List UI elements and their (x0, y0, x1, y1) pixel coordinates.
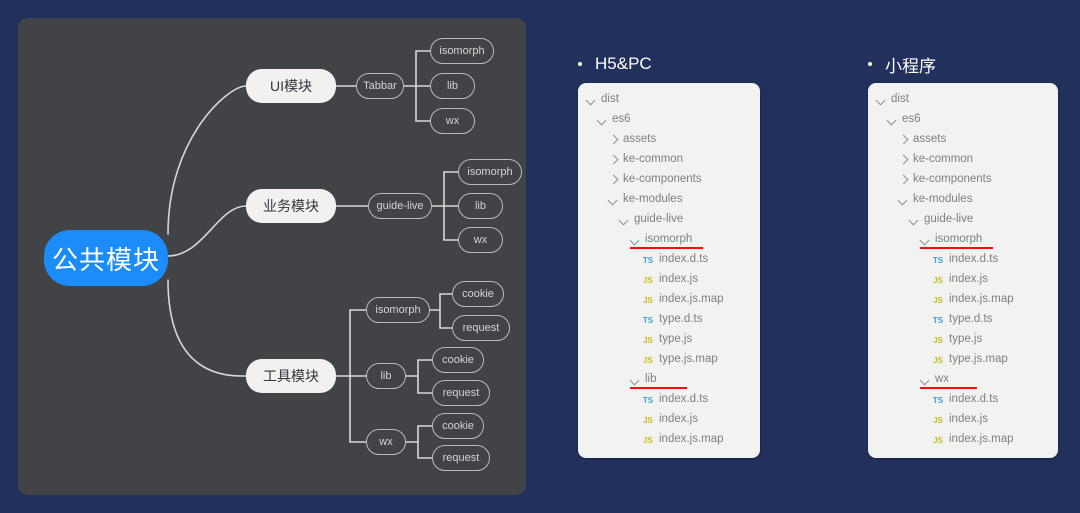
tree-folder-row[interactable]: isomorph (868, 230, 1058, 250)
tree-folder-row[interactable]: dist (578, 90, 760, 110)
tree-row-label: type.d.ts (659, 314, 702, 326)
tree-row-label: index.js.map (659, 434, 724, 446)
tree-row-label: lib (645, 374, 657, 386)
mindmap-node-tools-lib[interactable]: lib (366, 363, 406, 389)
tree-row-label: assets (913, 134, 946, 146)
mindmap-panel: 公共模块 UI模块 Tabbar isomorph lib wx 业务模块 gu… (18, 18, 526, 495)
tree-folder-row[interactable]: ke-common (868, 150, 1058, 170)
highlight-underline (920, 387, 977, 389)
tree-row-label: type.js.map (659, 354, 718, 366)
tree-row-label: es6 (612, 114, 631, 126)
ts-file-icon: TS (641, 396, 655, 405)
tree-row-label: index.js.map (949, 434, 1014, 446)
file-tree-h5pc-title-label: H5&PC (595, 54, 652, 74)
mindmap-node-biz-isomorph[interactable]: isomorph (458, 159, 522, 185)
tree-row-label: assets (623, 134, 656, 146)
tree-row-label: index.d.ts (659, 394, 708, 406)
tree-row-label: dist (601, 94, 619, 106)
chevron-down-icon[interactable] (887, 115, 898, 126)
tree-row-label: type.js (949, 334, 982, 346)
js-file-icon: JS (931, 296, 945, 305)
tree-file-row[interactable]: JSindex.js.map (578, 290, 760, 310)
highlight-underline (630, 247, 703, 249)
ts-file-icon: TS (641, 316, 655, 325)
tree-row-label: index.js.map (659, 294, 724, 306)
tree-file-row[interactable]: JStype.js.map (578, 350, 760, 370)
js-file-icon: JS (931, 336, 945, 345)
tree-row-label: index.d.ts (659, 254, 708, 266)
tree-file-row[interactable]: JSindex.js (578, 270, 760, 290)
js-file-icon: JS (641, 336, 655, 345)
bullet-icon (578, 62, 582, 66)
tree-row-label: type.d.ts (949, 314, 992, 326)
tree-row-label: guide-live (634, 214, 683, 226)
chevron-right-icon[interactable] (608, 155, 619, 166)
chevron-down-icon[interactable] (608, 195, 619, 206)
mindmap-node-ui-isomorph[interactable]: isomorph (430, 38, 494, 64)
tree-row-label: guide-live (924, 214, 973, 226)
chevron-down-icon[interactable] (586, 95, 597, 106)
file-tree-h5pc: H5&PC distes6assetske-commonke-component… (578, 52, 760, 458)
tree-file-row[interactable]: JSindex.js (578, 410, 760, 430)
tree-folder-row[interactable]: wx (868, 370, 1058, 390)
file-tree-h5pc-title: H5&PC (578, 52, 760, 76)
mindmap-node-business-module[interactable]: 业务模块 (246, 189, 336, 223)
tree-folder-row[interactable]: es6 (868, 110, 1058, 130)
tree-folder-row[interactable]: es6 (578, 110, 760, 130)
mindmap-node-tabbar[interactable]: Tabbar (356, 73, 404, 99)
tree-row-label: ke-components (913, 174, 992, 186)
js-file-icon: JS (931, 436, 945, 445)
tree-row-label: index.js (659, 274, 698, 286)
ts-file-icon: TS (641, 256, 655, 265)
tree-row-label: index.js.map (949, 294, 1014, 306)
mindmap-node-tools-wx-cookie[interactable]: cookie (432, 413, 484, 439)
mindmap-root-node[interactable]: 公共模块 (44, 230, 168, 286)
tree-folder-row[interactable]: assets (868, 130, 1058, 150)
ts-file-icon: TS (931, 316, 945, 325)
chevron-right-icon[interactable] (898, 155, 909, 166)
mindmap-node-tools-isomorph[interactable]: isomorph (366, 297, 430, 323)
tree-folder-row[interactable]: ke-components (578, 170, 760, 190)
chevron-right-icon[interactable] (898, 175, 909, 186)
tree-file-row[interactable]: JSindex.js (868, 270, 1058, 290)
ts-file-icon: TS (931, 256, 945, 265)
tree-file-row[interactable]: JSindex.js.map (868, 430, 1058, 450)
js-file-icon: JS (641, 356, 655, 365)
mindmap-node-ui-lib[interactable]: lib (430, 73, 475, 99)
mindmap-node-guide-live[interactable]: guide-live (368, 193, 432, 219)
tree-row-label: ke-modules (913, 194, 972, 206)
js-file-icon: JS (931, 356, 945, 365)
js-file-icon: JS (931, 416, 945, 425)
mindmap-node-tools-lib-request[interactable]: request (432, 380, 490, 406)
screenshot-root: 公共模块 UI模块 Tabbar isomorph lib wx 业务模块 gu… (0, 0, 1080, 513)
tree-folder-row[interactable]: lib (578, 370, 760, 390)
bullet-icon (868, 62, 872, 66)
tree-folder-row[interactable]: ke-components (868, 170, 1058, 190)
tree-row-label: type.js.map (949, 354, 1008, 366)
tree-folder-row[interactable]: ke-common (578, 150, 760, 170)
tree-row-label: isomorph (935, 234, 982, 246)
tree-file-row[interactable]: JSindex.js (868, 410, 1058, 430)
tree-folder-row[interactable]: assets (578, 130, 760, 150)
tree-row-label: index.js (949, 274, 988, 286)
mindmap-node-biz-wx[interactable]: wx (458, 227, 503, 253)
tree-row-label: index.js (949, 414, 988, 426)
highlight-underline (630, 387, 687, 389)
mindmap-node-tools-wx[interactable]: wx (366, 429, 406, 455)
mindmap-node-tools-module[interactable]: 工具模块 (246, 359, 336, 393)
js-file-icon: JS (641, 416, 655, 425)
chevron-down-icon[interactable] (876, 95, 887, 106)
file-tree-miniprogram-card: distes6assetske-commonke-componentske-mo… (868, 83, 1058, 458)
tree-file-row[interactable]: TSindex.d.ts (868, 250, 1058, 270)
file-tree-miniprogram-title: 小程序 (868, 52, 1058, 76)
tree-row-label: ke-components (623, 174, 702, 186)
tree-row-label: ke-common (623, 154, 683, 166)
tree-row-label: ke-modules (623, 194, 682, 206)
file-tree-miniprogram-title-label: 小程序 (885, 52, 936, 77)
tree-file-row[interactable]: JStype.js (578, 330, 760, 350)
tree-row-label: type.js (659, 334, 692, 346)
tree-file-row[interactable]: JSindex.js.map (578, 430, 760, 450)
file-tree-miniprogram: 小程序 distes6assetske-commonke-componentsk… (868, 52, 1058, 458)
chevron-down-icon[interactable] (898, 195, 909, 206)
highlight-underline (920, 247, 993, 249)
chevron-down-icon[interactable] (920, 375, 931, 386)
js-file-icon: JS (931, 276, 945, 285)
js-file-icon: JS (641, 436, 655, 445)
mindmap-node-tools-lib-cookie[interactable]: cookie (432, 347, 484, 373)
chevron-down-icon[interactable] (630, 375, 641, 386)
chevron-right-icon[interactable] (898, 135, 909, 146)
chevron-right-icon[interactable] (608, 175, 619, 186)
tree-row-label: index.d.ts (949, 394, 998, 406)
tree-folder-row[interactable]: ke-modules (578, 190, 760, 210)
tree-row-label: wx (935, 374, 949, 386)
tree-file-row[interactable]: JStype.js.map (868, 350, 1058, 370)
tree-row-label: es6 (902, 114, 921, 126)
tree-row-label: index.d.ts (949, 254, 998, 266)
tree-row-label: isomorph (645, 234, 692, 246)
tree-file-row[interactable]: TSindex.d.ts (578, 250, 760, 270)
chevron-down-icon[interactable] (630, 235, 641, 246)
tree-row-label: dist (891, 94, 909, 106)
tree-folder-row[interactable]: guide-live (868, 210, 1058, 230)
mindmap-node-tools-isomorph-request[interactable]: request (452, 315, 510, 341)
tree-file-row[interactable]: TSindex.d.ts (868, 390, 1058, 410)
chevron-down-icon[interactable] (920, 235, 931, 246)
file-tree-h5pc-card: distes6assetske-commonke-componentske-mo… (578, 83, 760, 458)
tree-folder-row[interactable]: ke-modules (868, 190, 1058, 210)
mindmap-node-ui-module[interactable]: UI模块 (246, 69, 336, 103)
tree-file-row[interactable]: TSindex.d.ts (578, 390, 760, 410)
mindmap-node-biz-lib[interactable]: lib (458, 193, 503, 219)
mindmap-node-ui-wx[interactable]: wx (430, 108, 475, 134)
chevron-down-icon[interactable] (597, 115, 608, 126)
chevron-right-icon[interactable] (608, 135, 619, 146)
tree-file-row[interactable]: TStype.d.ts (868, 310, 1058, 330)
tree-folder-row[interactable]: isomorph (578, 230, 760, 250)
tree-row-label: ke-common (913, 154, 973, 166)
tree-file-row[interactable]: TStype.d.ts (578, 310, 760, 330)
tree-row-label: index.js (659, 414, 698, 426)
tree-file-row[interactable]: JStype.js (868, 330, 1058, 350)
mindmap-node-tools-isomorph-cookie[interactable]: cookie (452, 281, 504, 307)
tree-folder-row[interactable]: guide-live (578, 210, 760, 230)
ts-file-icon: TS (931, 396, 945, 405)
tree-folder-row[interactable]: dist (868, 90, 1058, 110)
chevron-down-icon[interactable] (619, 215, 630, 226)
chevron-down-icon[interactable] (909, 215, 920, 226)
mindmap-node-tools-wx-request[interactable]: request (432, 445, 490, 471)
tree-file-row[interactable]: JSindex.js.map (868, 290, 1058, 310)
js-file-icon: JS (641, 296, 655, 305)
js-file-icon: JS (641, 276, 655, 285)
